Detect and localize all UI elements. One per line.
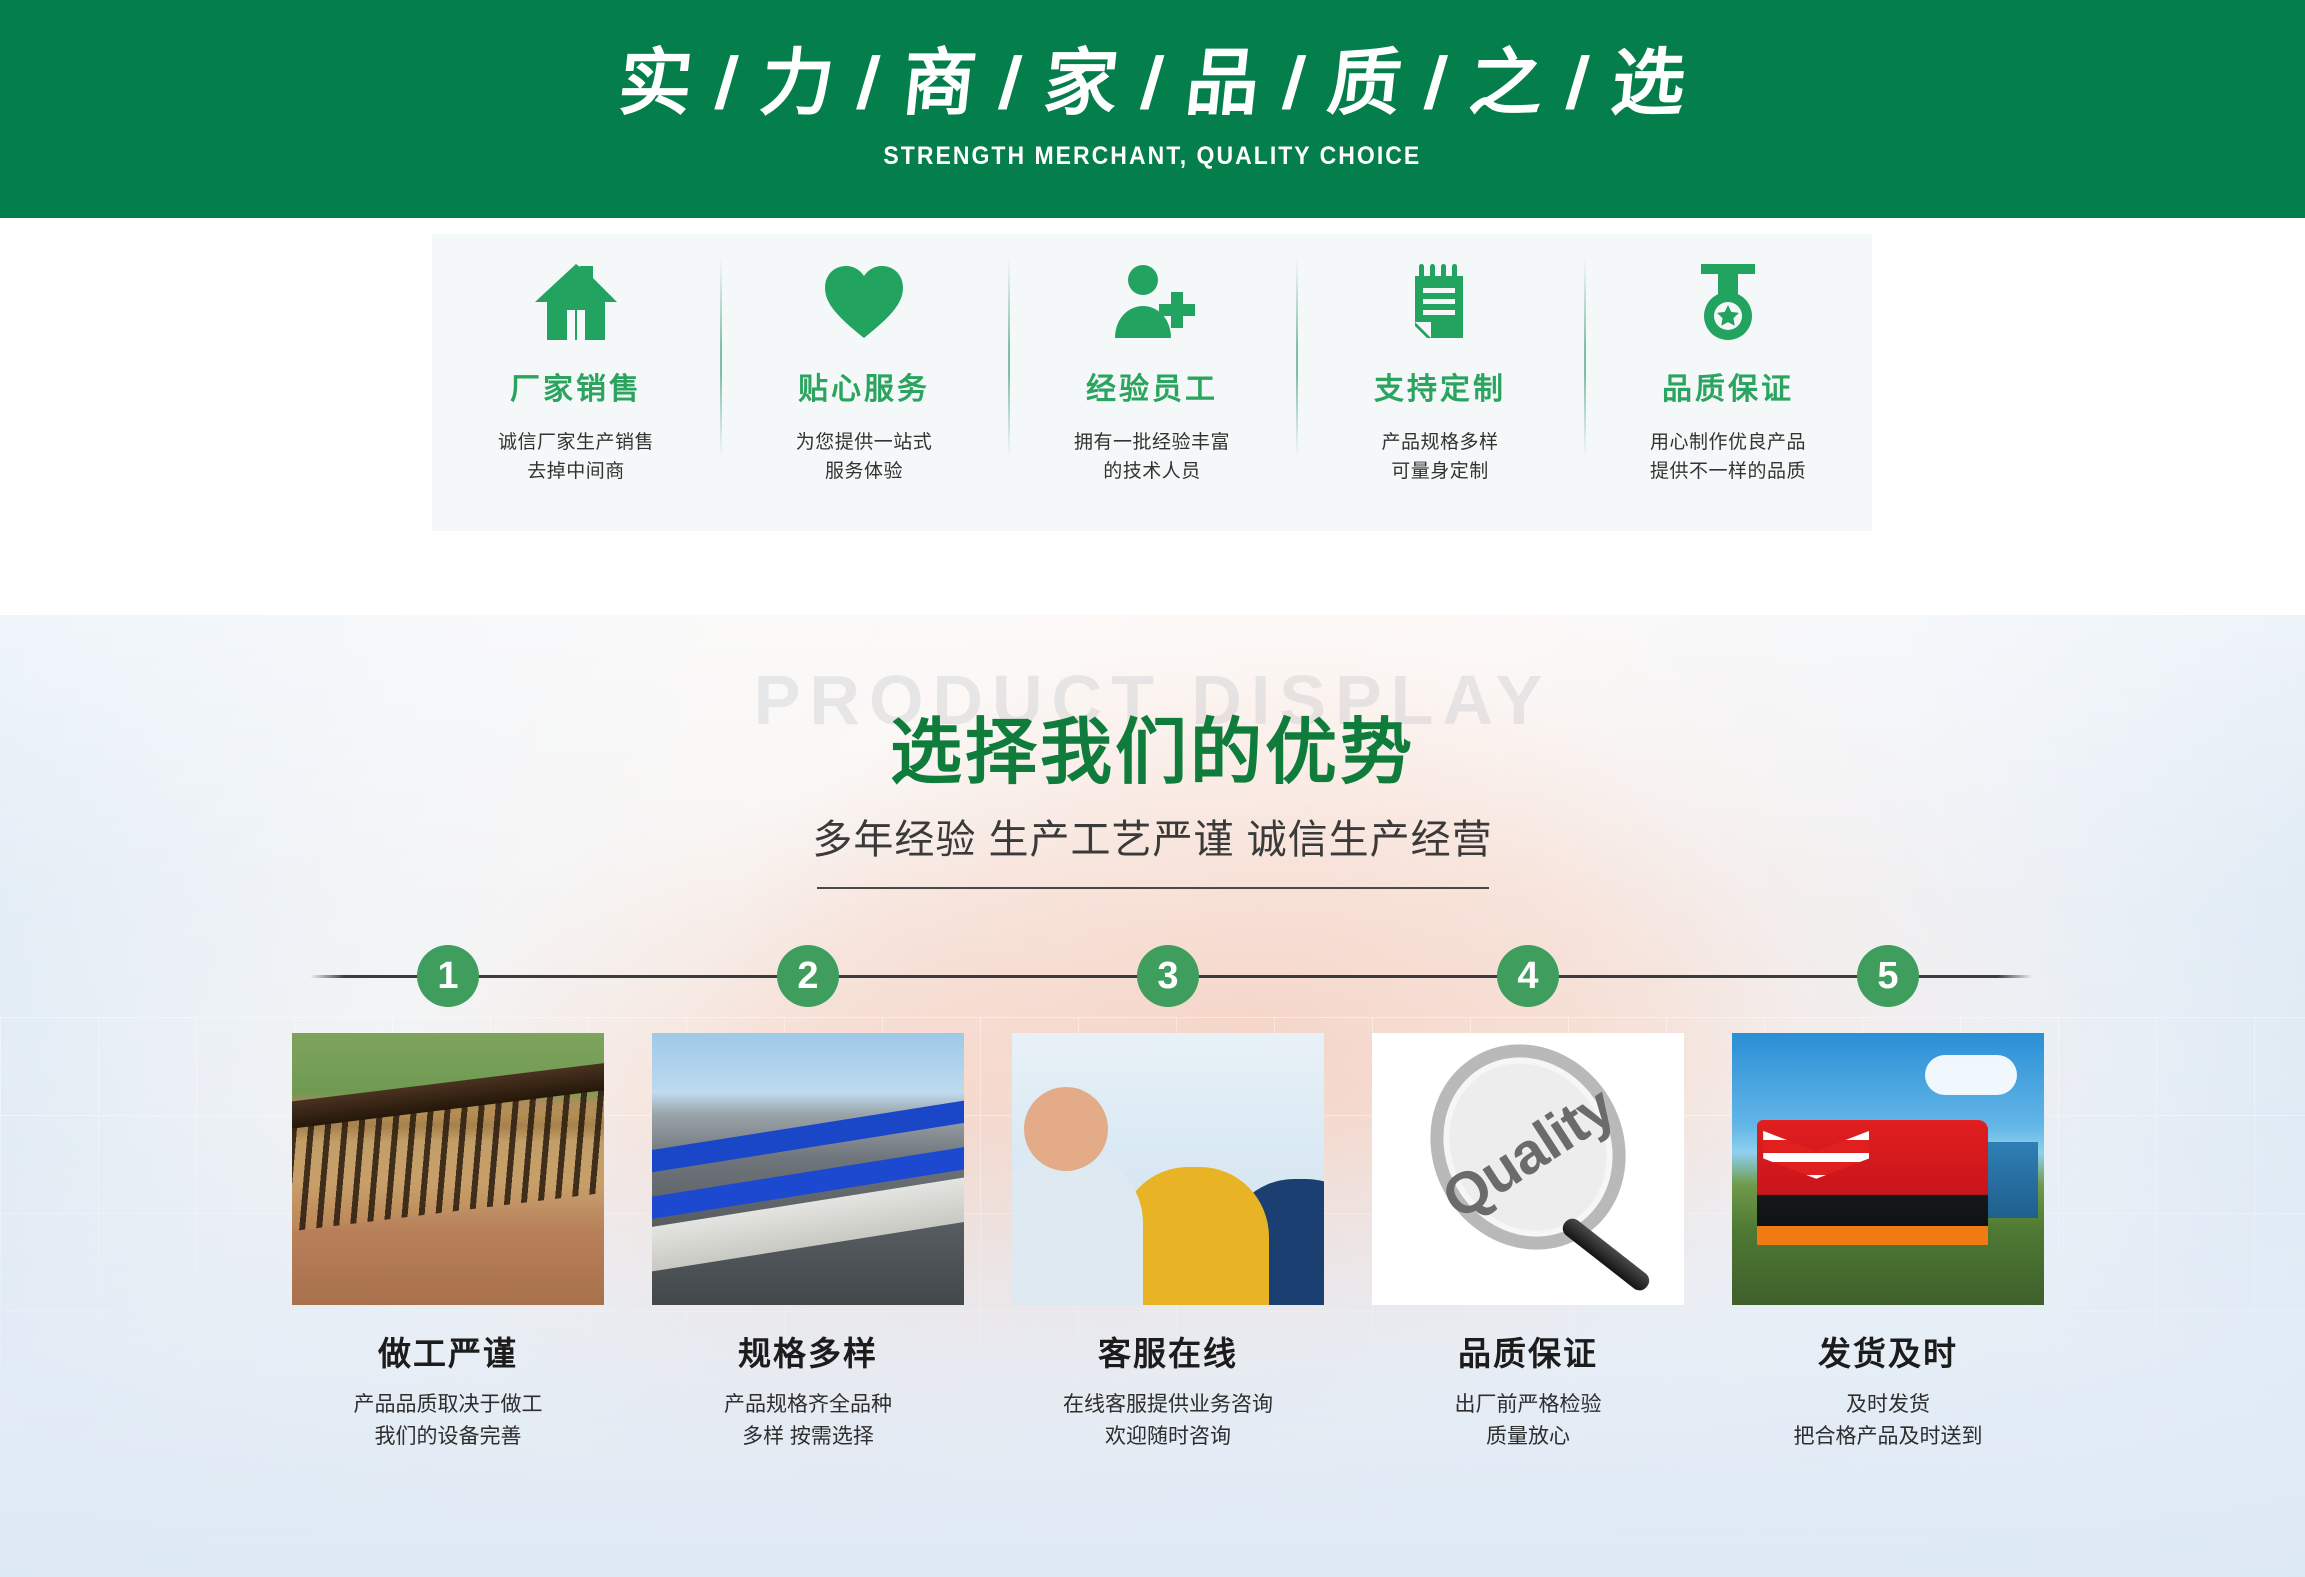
user-plus-icon xyxy=(1109,256,1195,348)
advantage-card-1[interactable]: 做工严谨 产品品质取决于做工 我们的设备完善 xyxy=(292,1033,604,1452)
feature-desc-line1: 诚信厂家生产销售 xyxy=(498,432,654,453)
bronze-bridge-railing-photo xyxy=(292,1033,604,1305)
advantage-card-3[interactable]: 客服在线 在线客服提供业务咨询 欢迎随时咨询 xyxy=(1012,1033,1324,1452)
card-desc-line2: 欢迎随时咨询 xyxy=(1105,1425,1231,1448)
card-desc-line2: 把合格产品及时送到 xyxy=(1794,1425,1983,1448)
promo-page: 实 / 力 / 商 / 家 / 品 / 质 / 之 / 选 STRENGTH M… xyxy=(0,0,2305,1577)
top-banner: 实 / 力 / 商 / 家 / 品 / 质 / 之 / 选 STRENGTH M… xyxy=(0,0,2305,218)
card-desc-line1: 在线客服提供业务咨询 xyxy=(1063,1393,1273,1416)
feature-item-caring-service[interactable]: 贴心服务 为您提供一站式 服务体验 xyxy=(720,234,1008,531)
card-desc-line1: 出厂前严格检验 xyxy=(1455,1393,1602,1416)
section-subtitle: 多年经验 生产工艺严谨 诚信生产经营 xyxy=(0,807,2305,865)
feature-title: 经验员工 xyxy=(1086,364,1218,408)
card-desc: 在线客服提供业务咨询 欢迎随时咨询 xyxy=(1012,1389,1324,1452)
feature-title: 品质保证 xyxy=(1662,364,1794,408)
notepad-icon xyxy=(1397,256,1483,348)
card-desc-line1: 产品品质取决于做工 xyxy=(354,1393,543,1416)
feature-item-factory-sales[interactable]: 厂家销售 诚信厂家生产销售 去掉中间商 xyxy=(432,234,720,531)
card-title: 品质保证 xyxy=(1372,1327,1684,1375)
card-desc-line1: 产品规格齐全品种 xyxy=(724,1393,892,1416)
feature-desc-line1: 为您提供一站式 xyxy=(796,432,933,453)
feature-desc-line1: 用心制作优良产品 xyxy=(1650,432,1806,453)
house-icon xyxy=(533,256,619,348)
feature-desc: 诚信厂家生产销售 去掉中间商 xyxy=(498,428,654,487)
banner-title: 实 / 力 / 商 / 家 / 品 / 质 / 之 / 选 xyxy=(615,47,1691,120)
feature-desc-line2: 提供不一样的品质 xyxy=(1650,461,1806,482)
advantage-card-2[interactable]: 规格多样 产品规格齐全品种 多样 按需选择 xyxy=(652,1033,964,1452)
feature-desc-line2: 可量身定制 xyxy=(1391,461,1489,482)
timeline-step-3[interactable]: 3 xyxy=(1137,945,1199,1007)
feature-title: 厂家销售 xyxy=(510,364,642,408)
card-title: 规格多样 xyxy=(652,1327,964,1375)
advantage-card-4[interactable]: Quality 品质保证 出厂前严格检验 质量放心 xyxy=(1372,1033,1684,1452)
quality-magnifier-photo: Quality xyxy=(1372,1033,1684,1305)
card-title: 做工严谨 xyxy=(292,1327,604,1375)
timeline-step-2[interactable]: 2 xyxy=(777,945,839,1007)
blue-highway-guardrail-photo xyxy=(652,1033,964,1305)
feature-desc-line2: 去掉中间商 xyxy=(527,461,625,482)
medal-icon xyxy=(1685,256,1771,348)
feature-desc: 为您提供一站式 服务体验 xyxy=(796,428,933,487)
feature-item-quality-guarantee[interactable]: 品质保证 用心制作优良产品 提供不一样的品质 xyxy=(1584,234,1872,531)
feature-item-custom-support[interactable]: 支持定制 产品规格多样 可量身定制 xyxy=(1296,234,1584,531)
banner-subtitle: STRENGTH MERCHANT, QUALITY CHOICE xyxy=(884,142,1422,171)
feature-title: 贴心服务 xyxy=(798,364,930,408)
card-desc-line1: 及时发货 xyxy=(1846,1393,1930,1416)
feature-desc-line2: 服务体验 xyxy=(825,461,903,482)
card-title: 发货及时 xyxy=(1732,1327,2044,1375)
call-center-agents-photo xyxy=(1012,1033,1324,1305)
timeline-step-4[interactable]: 4 xyxy=(1497,945,1559,1007)
card-desc-line2: 我们的设备完善 xyxy=(375,1425,522,1448)
feature-desc: 拥有一批经验丰富 的技术人员 xyxy=(1074,428,1230,487)
card-desc: 出厂前严格检验 质量放心 xyxy=(1372,1389,1684,1452)
feature-desc: 产品规格多样 可量身定制 xyxy=(1381,428,1498,487)
red-freight-locomotive-photo xyxy=(1732,1033,2044,1305)
timeline-step-1[interactable]: 1 xyxy=(417,945,479,1007)
advantage-cards: 做工严谨 产品品质取决于做工 我们的设备完善 规格多样 产品规格齐全品种 多样 … xyxy=(0,1033,2305,1553)
features-panel: 厂家销售 诚信厂家生产销售 去掉中间商 贴心服务 为您提供一站式 服务体验 xyxy=(432,234,1872,531)
card-desc: 产品规格齐全品种 多样 按需选择 xyxy=(652,1389,964,1452)
advantage-card-5[interactable]: 发货及时 及时发货 把合格产品及时送到 xyxy=(1732,1033,2044,1452)
card-desc-line2: 多样 按需选择 xyxy=(742,1425,874,1448)
feature-desc-line1: 拥有一批经验丰富 xyxy=(1074,432,1230,453)
advantage-section: PRODUCT DISPLAY 选择我们的优势 多年经验 生产工艺严谨 诚信生产… xyxy=(0,615,2305,1577)
feature-desc-line2: 的技术人员 xyxy=(1103,461,1201,482)
heart-icon xyxy=(821,256,907,348)
card-desc: 及时发货 把合格产品及时送到 xyxy=(1732,1389,2044,1452)
title-underline xyxy=(817,887,1489,889)
feature-desc: 用心制作优良产品 提供不一样的品质 xyxy=(1650,428,1806,487)
card-desc-line2: 质量放心 xyxy=(1486,1425,1570,1448)
section-title: 选择我们的优势 xyxy=(0,693,2305,798)
feature-title: 支持定制 xyxy=(1374,364,1506,408)
feature-item-experienced-staff[interactable]: 经验员工 拥有一批经验丰富 的技术人员 xyxy=(1008,234,1296,531)
card-title: 客服在线 xyxy=(1012,1327,1324,1375)
features-section: 厂家销售 诚信厂家生产销售 去掉中间商 贴心服务 为您提供一站式 服务体验 xyxy=(0,218,2305,615)
card-desc: 产品品质取决于做工 我们的设备完善 xyxy=(292,1389,604,1452)
feature-desc-line1: 产品规格多样 xyxy=(1381,432,1498,453)
timeline-step-5[interactable]: 5 xyxy=(1857,945,1919,1007)
